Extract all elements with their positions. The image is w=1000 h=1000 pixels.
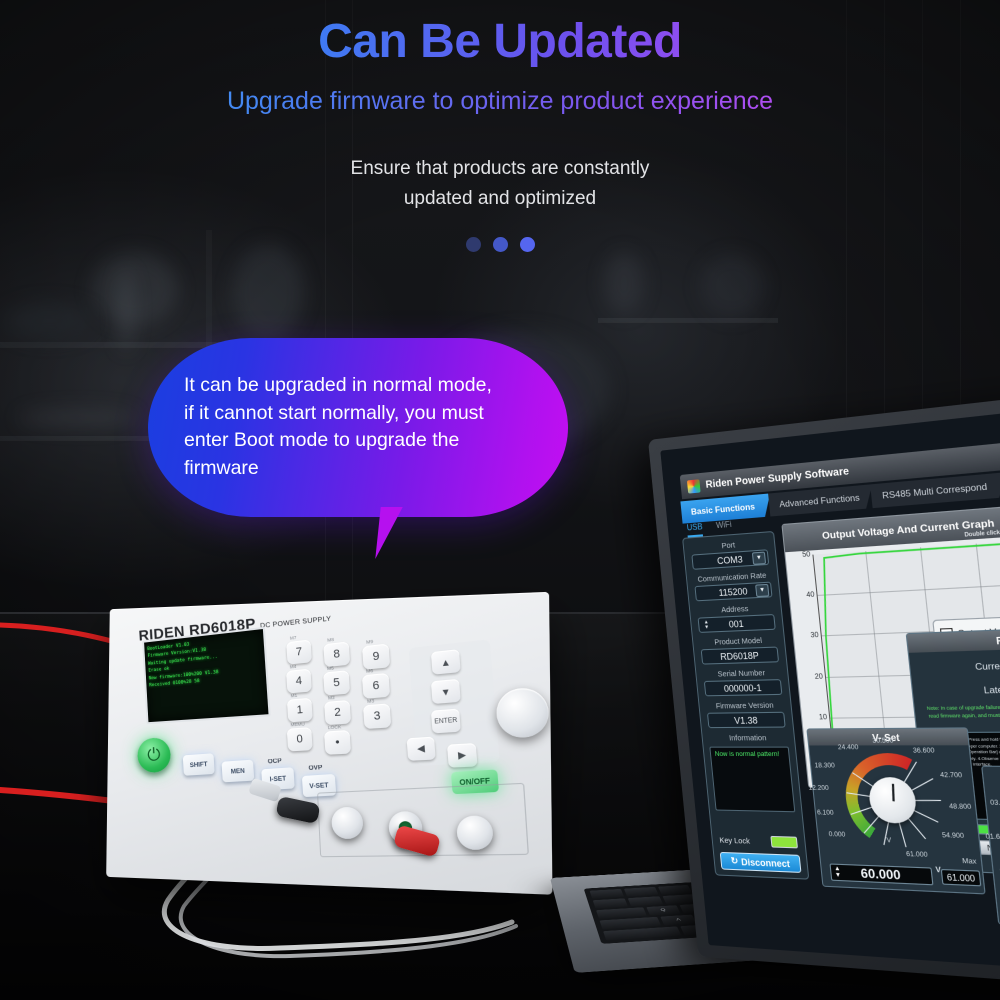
firmware-warning-text: Note: In case of upgrade failure (upper … [923,702,1000,728]
vset-tick: 18.300 [814,762,835,770]
vset-tick: 0.000 [828,831,845,839]
y-tick: 30 [810,632,819,640]
address-stepper[interactable]: ▲▼ 001 [698,614,776,633]
key-f2[interactable] [658,885,693,895]
stepper-arrows-icon[interactable]: ▲▼ [834,865,842,880]
device-mem-button[interactable]: MEN [222,760,255,783]
keylock-toggle[interactable] [770,836,798,849]
keypad-key-2[interactable]: 2 [324,700,351,725]
keylock-label: Key Lock [719,835,750,845]
vset-gauge[interactable]: 0.000 6.100 12.200 18.300 24.400 30.500 … [841,753,945,849]
model-value: RD6018P [701,647,779,665]
key-memory-label: M4 [290,664,297,670]
nav-up-icon[interactable]: ▲ [431,649,461,675]
keypad-key-0[interactable]: 0 [287,727,313,751]
key-memory-label: M8 [327,637,334,643]
bubble-line-4: firmware [184,455,538,483]
fw-version-value: V1.38 [707,712,786,728]
power-supply-device: RIDEN RD6018P DC POWER SUPPLY BootLoader… [108,608,513,876]
chevron-down-icon[interactable]: ▼ [755,584,769,597]
device-keypad[interactable]: M7 M8 M9 M4 M5 M6 M1 M2 M3 MEMU LOCK 7 8… [286,630,405,756]
bubble-line-2: if it cannot start normally, you must [184,400,538,428]
bubble-line-3: enter Boot mode to upgrade the [184,427,538,455]
key-memory-label: LOCK [328,724,342,730]
current-fw-label: Current Firmware Version [975,657,1000,672]
iset-tick: 03.220 [990,799,1000,807]
bubble-line-1: It can be upgraded in normal mode, [184,372,538,400]
rate-value: 115200 [718,586,748,598]
disconnect-label: Disconnect [741,856,791,868]
stepper-arrows-icon[interactable]: ▲▼ [701,619,713,632]
latest-fw-row: Latest Firmware Version V1.38 [919,677,1000,699]
keypad-key-8[interactable]: 8 [323,641,350,667]
tab-wifi[interactable]: WiFi [716,520,733,536]
keypad-key-3[interactable]: 3 [363,703,391,729]
vset-tick: 36.600 [913,747,935,755]
keypad-key-1[interactable]: 1 [287,698,313,723]
vset-tick: 42.700 [940,772,963,780]
tab-usb[interactable]: USB [686,522,703,537]
bubble-tail-icon [375,507,416,559]
laptop-lid: Riden Power Supply Software Basic Functi… [648,387,1000,992]
nav-down-icon[interactable]: ▼ [431,679,461,704]
vset-max-label: Max [962,857,977,865]
chevron-down-icon[interactable]: ▼ [752,552,766,565]
nav-left-icon[interactable]: ◀ [407,737,436,761]
carousel-dot-3[interactable] [520,237,535,252]
address-value: 001 [728,618,744,629]
fw-version-label: Firmware Version [699,700,791,711]
device-ovp-label: OVP [308,765,322,772]
nav-right-icon[interactable]: ▶ [447,743,478,768]
y-tick: 10 [819,714,828,722]
y-tick: 20 [814,673,823,681]
serial-label: Serial Number [696,667,788,679]
callout-bubble-body: It can be upgraded in normal mode, if it… [148,338,568,517]
keypad-key-7[interactable]: 7 [286,639,312,664]
keypad-key-5[interactable]: 5 [323,670,350,695]
callout-bubble: It can be upgraded in normal mode, if it… [148,338,568,517]
device-navpad[interactable]: ▲ ▼ ENTER ◀ ▶ [409,639,500,766]
information-box: Now is normal pattern! [709,747,795,813]
page-title: Can Be Updated [0,14,1000,69]
vset-tick: 61.000 [906,851,928,860]
terminal-positive[interactable] [456,815,494,850]
lead-line-1: Ensure that products are constantly [0,154,1000,183]
key-memory-label: M2 [328,695,335,701]
carousel-dots[interactable] [0,237,1000,252]
app-title: Riden Power Supply Software [705,465,849,490]
information-label: Information [702,733,794,743]
key-q[interactable]: Q [646,905,681,915]
key-memory-label: M1 [291,693,298,699]
keypad-key-4[interactable]: 4 [286,669,312,694]
device-power-button[interactable]: ⏻ [137,737,171,773]
serial-value: 000000-1 [704,679,783,696]
keylock-row: Key Lock [719,834,798,848]
laptop-screen: Riden Power Supply Software Basic Functi… [660,403,1000,977]
vset-tick: 54.900 [942,832,965,840]
page-subtitle: Upgrade firmware to optimize product exp… [0,86,1000,116]
disconnect-button[interactable]: ↻ Disconnect [720,852,802,873]
vset-tick: 12.200 [808,784,829,792]
device-rotary-knob[interactable] [496,688,548,738]
header: Can Be Updated Upgrade firmware to optim… [0,14,1000,252]
port-value: COM3 [717,554,743,566]
key-memory-label: M9 [366,639,373,645]
current-fw-row: Current Firmware Version V1.38 [916,651,1000,675]
y-tick: 50 [802,551,811,559]
vset-tick: 30.500 [872,737,894,745]
lead-line-2: updated and optimized [0,184,1000,213]
device-ocp-label: OCP [268,758,282,765]
laptop: Q W E R T Y U I O P A S [596,420,1000,1000]
key-memory-label: M3 [367,698,374,704]
device-lcd-screen: BootLoader V1.03 Firmware Version:V1.38 … [142,627,271,725]
key-1[interactable] [627,896,662,906]
refresh-icon: ↻ [730,855,739,867]
key-tilde[interactable] [593,898,628,908]
key-memory-label: MEMU [290,721,305,727]
key-a[interactable]: A [661,915,697,926]
vset-tick: 6.100 [817,809,834,817]
vset-value: 60.000 [860,866,901,883]
key-memory-label: M7 [290,635,297,641]
lead-text: Ensure that products are constantly upda… [0,154,1000,213]
software-window: Riden Power Supply Software Basic Functi… [660,403,1000,977]
model-label: Product Model [693,635,784,648]
key-f1[interactable] [624,887,659,897]
keypad-key-9[interactable]: 9 [362,643,390,669]
vset-tick: 48.800 [949,803,972,811]
iset-tick: 01.600 [985,833,1000,842]
carousel-dot-2[interactable] [493,237,508,252]
keypad-key-6[interactable]: 6 [362,673,390,699]
nav-enter-button[interactable]: ENTER [431,709,461,734]
port-select[interactable]: COM3 ▼ [691,549,769,570]
latest-fw-label: Latest Firmware Version [983,681,1000,695]
app-logo-icon [687,479,701,493]
screenshot-root: Can Be Updated Upgrade firmware to optim… [0,0,1000,1000]
carousel-dot-1[interactable] [466,237,481,252]
device-shift-button[interactable]: SHIFT [183,753,215,776]
vset-max-value: 61.000 [941,869,982,886]
vset-panel: V- Set [806,727,985,894]
y-tick: 40 [806,592,815,600]
vset-unit-label: V [886,837,891,845]
device-front-panel: RIDEN RD6018P DC POWER SUPPLY BootLoader… [106,592,552,895]
keypad-key-dot[interactable]: • [324,730,351,755]
vset-value-field[interactable]: ▲▼ 60.000 V [829,863,933,885]
terminal-negative[interactable] [331,806,364,839]
key-esc[interactable] [590,889,624,899]
rate-select[interactable]: 115200 ▼ [694,582,772,602]
vset-tick: 24.400 [838,744,859,752]
